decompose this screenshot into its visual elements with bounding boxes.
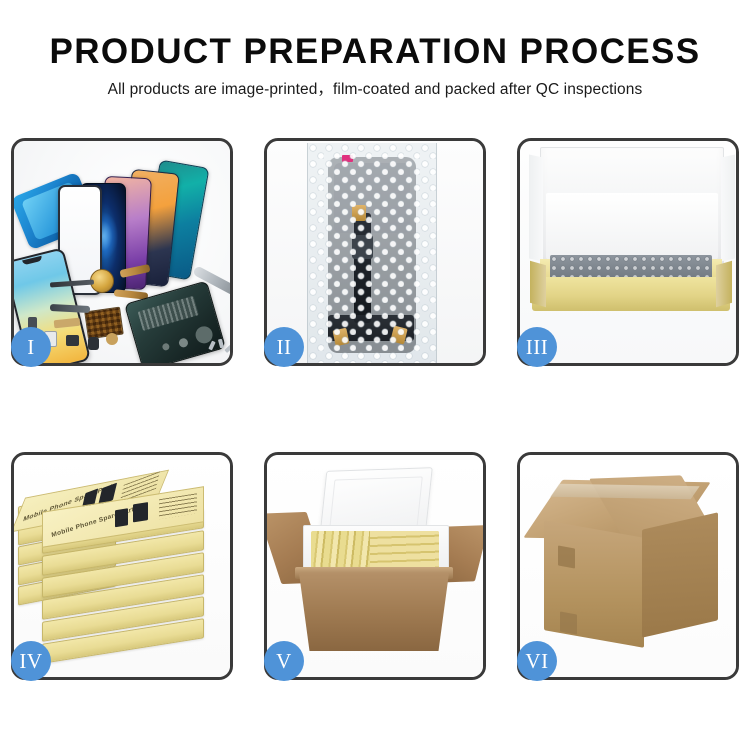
step-image-bubble-wrap — [267, 141, 483, 363]
bubble-texture — [308, 143, 436, 363]
step-panel-6[interactable]: VI — [517, 452, 739, 680]
header: PRODUCT PREPARATION PROCESS All products… — [0, 30, 750, 101]
product-preparation-page: PRODUCT PREPARATION PROCESS All products… — [0, 0, 750, 750]
step-badge-1: I — [11, 327, 51, 367]
yellow-boxes-inside — [311, 531, 439, 571]
step-image-stacked-boxes: Mobile Phone Spare Parts Mobile Phone Sp… — [14, 455, 230, 677]
carton-side-face — [642, 512, 718, 638]
step-badge-2: II — [264, 327, 304, 367]
carton-front-face — [544, 520, 644, 648]
step-badge-6: VI — [517, 641, 557, 681]
box-spec-lines-front — [159, 493, 197, 519]
chip-grid-part — [84, 307, 124, 340]
carton-flap-seam-top — [558, 546, 575, 569]
page-title: PRODUCT PREPARATION PROCESS — [0, 30, 750, 74]
step-badge-4: IV — [11, 641, 51, 681]
screws-group — [210, 339, 230, 355]
box-art-chip-f2 — [133, 502, 148, 522]
button-part — [106, 333, 118, 345]
vibrator-part — [88, 337, 99, 350]
step-badge-5: V — [264, 641, 304, 681]
step-image-products — [14, 141, 230, 363]
step-panel-4[interactable]: Mobile Phone Spare Parts Mobile Phone Sp… — [11, 452, 233, 680]
page-subtitle: All products are image-printed，film-coat… — [0, 79, 750, 101]
step-panel-2[interactable]: II — [264, 138, 486, 366]
process-steps-grid: I II — [11, 138, 739, 680]
carton-body — [299, 573, 449, 651]
step-badge-3: III — [517, 327, 557, 367]
tray-left-corner — [530, 261, 546, 308]
step-image-sealed-carton — [520, 455, 736, 677]
box-tray — [532, 259, 730, 311]
box-art-chip-f1 — [115, 508, 128, 527]
box-stack: Mobile Phone Spare Parts Mobile Phone Sp… — [14, 455, 230, 677]
carton-flap-seam-bottom — [560, 612, 577, 635]
foam-pad — [546, 193, 718, 259]
step-panel-5[interactable]: V — [264, 452, 486, 680]
step-panel-3[interactable]: III — [517, 138, 739, 366]
tray-right-corner — [716, 261, 732, 308]
bubble-wrap-bag — [307, 143, 437, 363]
camera-module-part — [66, 335, 79, 346]
step-panel-1[interactable]: I — [11, 138, 233, 366]
tray-front-face — [532, 277, 730, 311]
step-image-inner-box — [520, 141, 736, 363]
packing-tape — [550, 484, 699, 499]
step-image-carton-packing — [267, 455, 483, 677]
